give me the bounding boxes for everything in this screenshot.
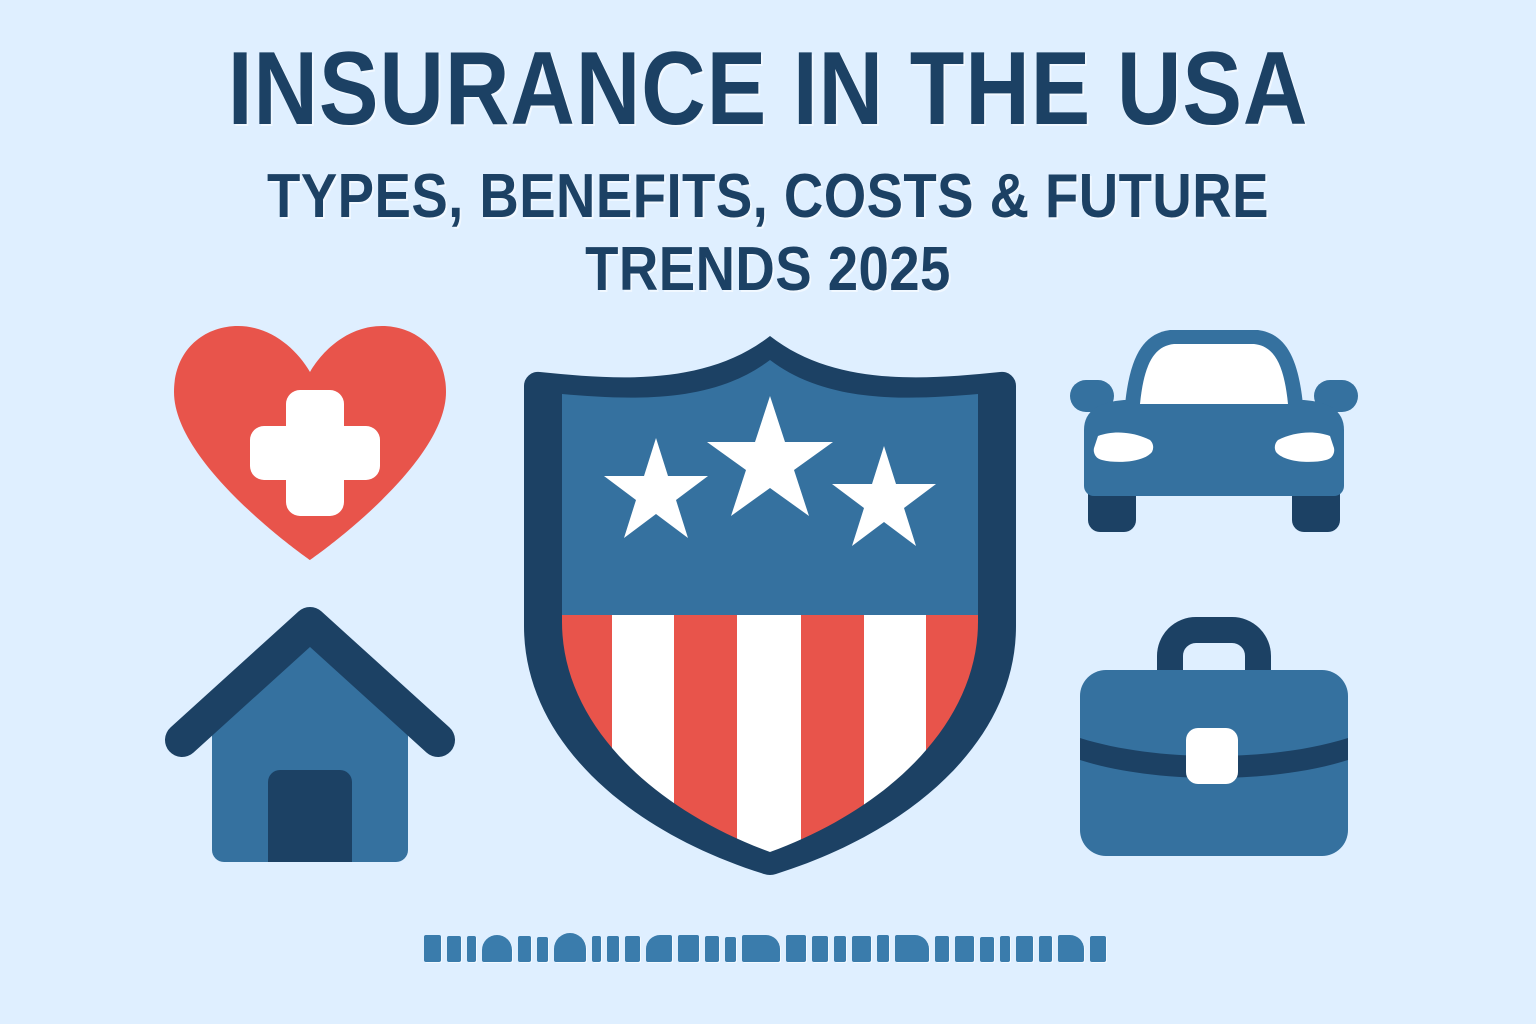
deco-block [607,936,619,962]
auto-insurance-car-icon [1066,318,1362,548]
deco-block [592,936,601,962]
deco-block [705,936,719,962]
business-insurance-briefcase-icon [1066,614,1362,868]
title-block: INSURANCE IN THE USA TYPES, BENEFITS, CO… [0,36,1536,306]
deco-block [646,935,672,962]
deco-block [447,936,461,962]
deco-block [424,935,441,962]
page-title: INSURANCE IN THE USA [108,36,1429,142]
deco-block [725,937,736,962]
deco-block [1039,936,1052,962]
deco-block [537,937,548,962]
deco-block [1000,936,1010,962]
deco-block [786,935,806,962]
deco-block [852,936,871,962]
page-subtitle: TYPES, BENEFITS, COSTS & FUTURE TRENDS 2… [92,160,1444,306]
deco-block [877,935,889,962]
page-subtitle-line-1: TYPES, BENEFITS, COSTS & FUTURE [92,160,1444,233]
deco-block [742,935,780,962]
deco-block [482,935,512,962]
deco-block [1090,936,1106,962]
deco-block [980,937,994,962]
deco-block [467,936,476,962]
bottom-block-strip [424,920,1112,962]
deco-block [834,936,846,962]
deco-block [895,935,929,962]
deco-block [518,936,531,962]
deco-block [678,935,699,962]
poster-canvas: INSURANCE IN THE USA TYPES, BENEFITS, CO… [0,0,1536,1024]
deco-block [812,936,828,962]
deco-block [935,936,949,962]
deco-block [1016,936,1033,962]
usa-shield-icon [508,330,1032,878]
deco-block [554,933,586,962]
health-insurance-heart-icon [168,322,452,562]
deco-block [1058,935,1084,962]
home-insurance-house-icon [168,612,452,870]
deco-block [625,936,640,962]
deco-block [955,936,974,962]
page-subtitle-line-2: TRENDS 2025 [92,233,1444,306]
